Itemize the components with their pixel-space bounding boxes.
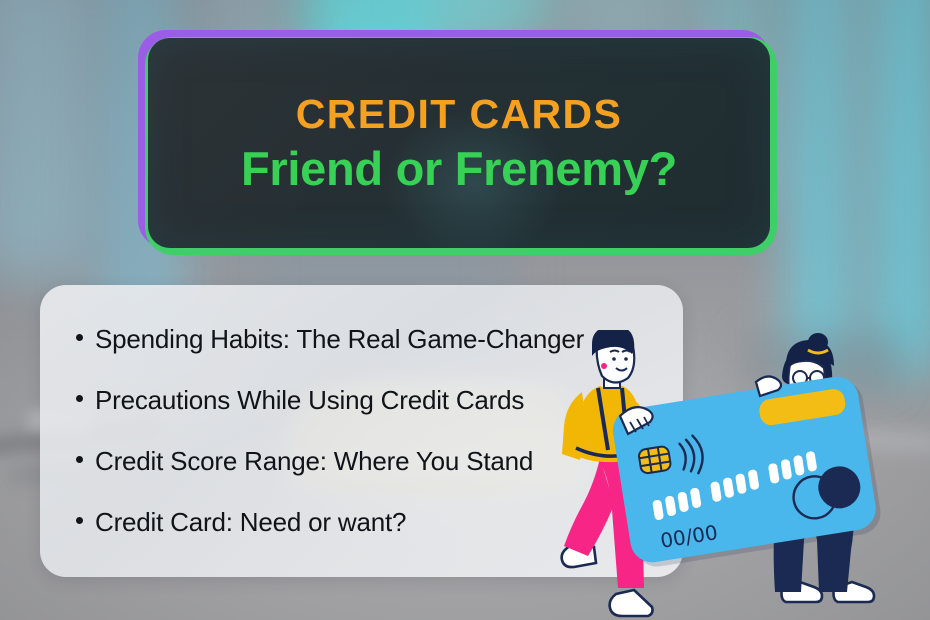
page-title-secondary: Friend or Frenemy? [241, 144, 677, 193]
list-item-label: Credit Card: Need or want? [95, 508, 406, 538]
title-card: CREDIT CARDS Friend or Frenemy? [143, 34, 775, 252]
list-item-label: Precautions While Using Credit Cards [95, 386, 524, 416]
list-item-label: Credit Score Range: Where You Stand [95, 447, 533, 477]
bullet-dot-icon [76, 395, 83, 402]
bullet-dot-icon [76, 456, 83, 463]
page-title-primary: CREDIT CARDS [296, 93, 623, 136]
credit-card-illustration: 00/00 [560, 330, 930, 620]
chip-icon [638, 446, 671, 474]
bullet-dot-icon [76, 334, 83, 341]
bullet-dot-icon [76, 517, 83, 524]
title-card-body: CREDIT CARDS Friend or Frenemy? [148, 38, 770, 248]
list-item-label: Spending Habits: The Real Game-Changer [95, 325, 584, 355]
